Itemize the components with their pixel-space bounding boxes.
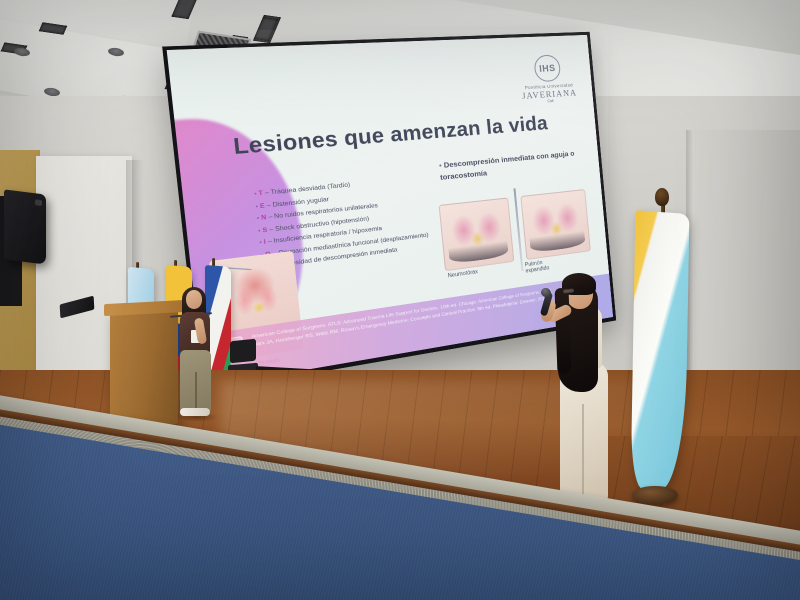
- lung-illustration-pneumothorax: [439, 197, 515, 271]
- shoes: [180, 408, 210, 416]
- mnemonic-key: T: [258, 190, 263, 197]
- slide-title: Lesiones que amenzan la vida: [232, 113, 549, 161]
- lung-caption-left: Neumotórax: [448, 269, 479, 280]
- chair-backrest: [230, 339, 256, 364]
- hair-front: [555, 288, 572, 374]
- head: [186, 290, 202, 309]
- ihs-crest-icon: IHS: [533, 54, 561, 82]
- wall-loudspeaker: [4, 189, 46, 264]
- auditorium-photo: IHS Pontificia Universidad JAVERIANA Cal…: [0, 0, 800, 600]
- mnemonic-key: N: [261, 215, 267, 222]
- decompression-heading: Descompresión inmediata con aguja o tora…: [439, 148, 593, 184]
- trouser-seam: [195, 372, 197, 412]
- mnemonic-key: E: [260, 202, 265, 209]
- lung-illustration-expanded: [520, 189, 590, 260]
- mnemonic-key: I: [264, 239, 267, 246]
- lung-caption-right: Pulmón expandido: [525, 259, 550, 275]
- mnemonic-key: S: [262, 227, 267, 234]
- flag-stand-base: [632, 486, 678, 504]
- lectern: [110, 310, 178, 424]
- trouser-seam: [582, 404, 584, 500]
- university-logo: IHS Pontificia Universidad JAVERIANA Cal…: [518, 54, 578, 105]
- flag-finial: [655, 188, 669, 206]
